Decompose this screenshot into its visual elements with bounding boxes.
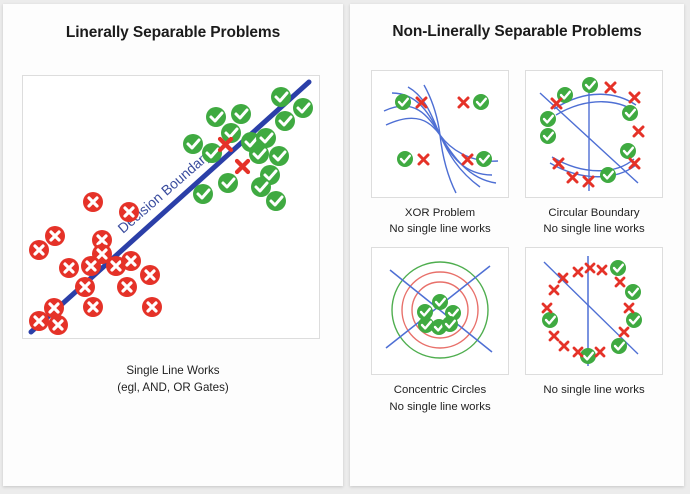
mini-chart-xor: XOR Problem No single line works (368, 70, 512, 237)
concentric-svg (372, 248, 508, 374)
left-caption-line2: (egl, AND, OR Gates) (3, 380, 343, 397)
page-title-right: Non-Linerally Separable Problems (350, 23, 684, 41)
mini-chart-circular: Circular Boundary No single line works (522, 70, 666, 237)
xor-negative-markers (417, 98, 472, 164)
left-caption: Single Line Works (egl, AND, OR Gates) (3, 363, 343, 397)
left-caption-line1: Single Line Works (3, 363, 343, 380)
concentric-caption: Concentric Circles No single line works (389, 382, 490, 414)
concentric-positive-markers (417, 294, 461, 335)
page-root: Linerally Separable Problems Decision Bo… (0, 0, 690, 494)
ring-plot (525, 247, 663, 375)
linearly-separable-plot-wrap: Decision Boundary (22, 75, 320, 339)
xor-caption-title: XOR Problem (389, 205, 490, 221)
mini-chart-concentric: Concentric Circles No single line works (368, 247, 512, 414)
ring-caption-subtitle: No single line works (543, 382, 644, 398)
xor-caption: XOR Problem No single line works (389, 205, 490, 237)
linearly-separable-plot: Decision Boundary (22, 75, 320, 339)
concentric-caption-subtitle: No single line works (389, 399, 490, 415)
linearly-separable-card: Linerally Separable Problems Decision Bo… (3, 4, 343, 486)
circular-boundary-plot (525, 70, 663, 198)
mini-chart-ring: No single line works (522, 247, 666, 414)
xor-svg (372, 71, 508, 197)
concentric-circles-plot (371, 247, 509, 375)
circular-svg (526, 71, 662, 197)
xor-caption-subtitle: No single line works (389, 221, 490, 237)
circular-caption: Circular Boundary No single line works (543, 205, 644, 237)
xor-plot (371, 70, 509, 198)
mini-chart-grid: XOR Problem No single line works (368, 70, 666, 415)
concentric-caption-title: Concentric Circles (389, 382, 490, 398)
decision-boundary-line (31, 82, 309, 332)
ring-svg (526, 248, 662, 374)
page-title-left: Linerally Separable Problems (3, 24, 343, 42)
circular-caption-subtitle: No single line works (543, 221, 644, 237)
circular-caption-title: Circular Boundary (543, 205, 644, 221)
non-linearly-separable-card: Non-Linerally Separable Problems (350, 4, 684, 486)
scatter-svg: Decision Boundary (23, 76, 319, 338)
ring-caption: No single line works (543, 382, 644, 398)
